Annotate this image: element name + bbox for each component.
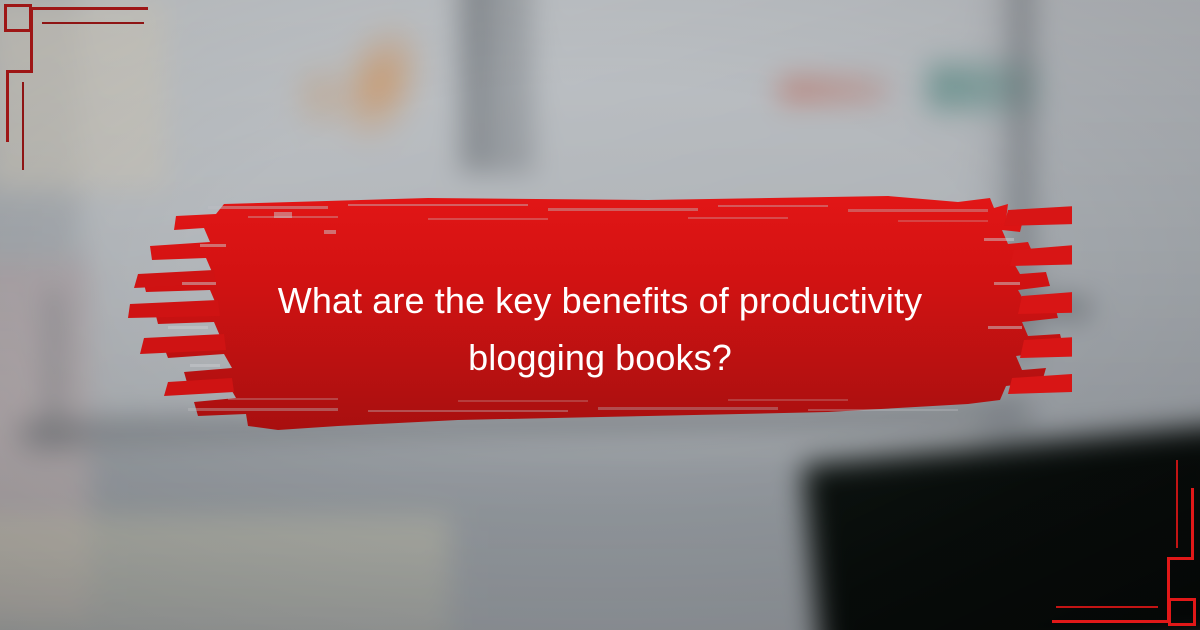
corner-line-top-elbow-vertical: [30, 7, 33, 73]
social-card: What are the key benefits of productivit…: [0, 0, 1200, 630]
corner-line-right-inner: [1176, 460, 1178, 548]
corner-line-top-inner: [42, 22, 144, 24]
corner-line-bottom-elbow-horizontal: [1167, 557, 1194, 560]
page-title: What are the key benefits of productivit…: [200, 272, 1000, 386]
corner-square-top-left: [4, 4, 32, 32]
corner-line-right-vertical: [1191, 488, 1194, 560]
corner-bracket-bottom-right: [1040, 470, 1200, 630]
corner-square-bottom-right: [1168, 598, 1196, 626]
corner-bracket-top-left: [0, 0, 160, 160]
corner-line-left-inner: [22, 82, 24, 170]
corner-line-bottom-horizontal: [1052, 620, 1170, 623]
corner-line-left-vertical: [6, 70, 9, 142]
corner-line-bottom-inner: [1056, 606, 1158, 608]
corner-line-bottom-elbow-vertical: [1167, 557, 1170, 623]
corner-line-top-horizontal: [30, 7, 148, 10]
corner-line-top-elbow-horizontal: [6, 70, 33, 73]
